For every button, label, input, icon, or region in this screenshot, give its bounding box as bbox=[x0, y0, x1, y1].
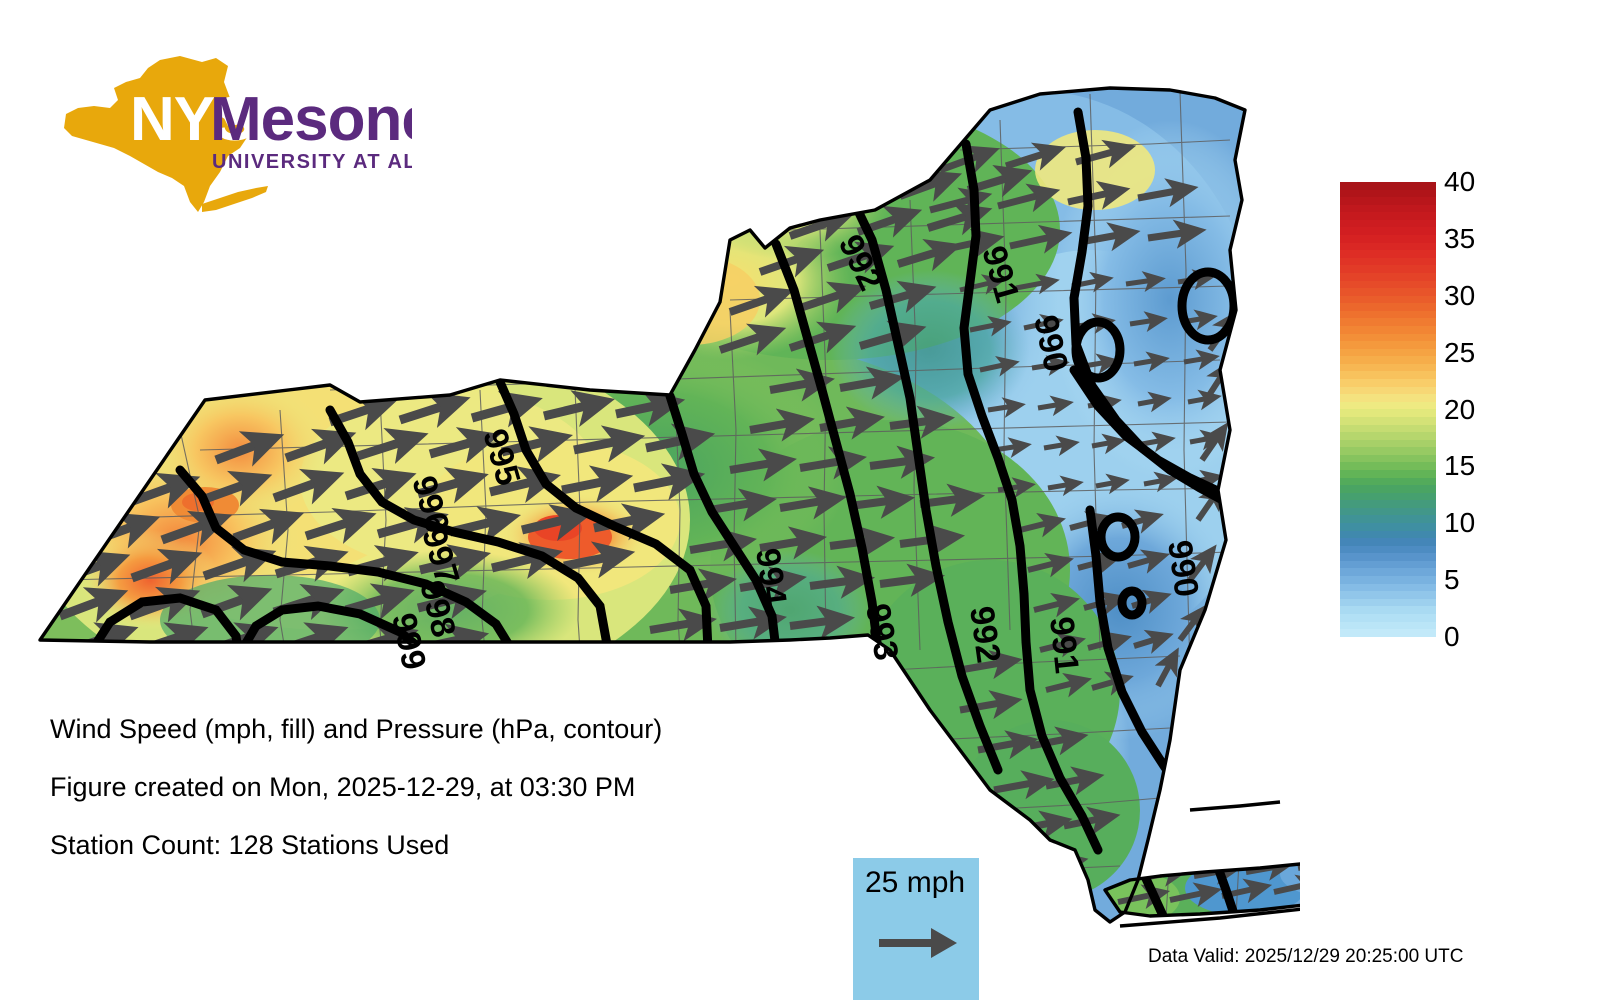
colorbar-band bbox=[1340, 508, 1436, 516]
colorbar-band bbox=[1340, 356, 1436, 364]
reference-vector-legend: 25 mph bbox=[853, 858, 979, 1000]
colorbar-gradient bbox=[1340, 182, 1436, 637]
colorbar-tick-15: 15 bbox=[1444, 452, 1475, 480]
colorbar-band bbox=[1340, 349, 1436, 357]
colorbar-band bbox=[1340, 220, 1436, 228]
colorbar-band bbox=[1340, 538, 1436, 546]
contour-label-990-east: 990 bbox=[1160, 538, 1206, 599]
caption-title: Wind Speed (mph, fill) and Pressure (hPa… bbox=[50, 716, 810, 743]
colorbar-band bbox=[1340, 462, 1436, 470]
colorbar-band bbox=[1340, 478, 1436, 486]
colorbar-band bbox=[1340, 296, 1436, 304]
colorbar-band bbox=[1340, 326, 1436, 334]
colorbar-band bbox=[1340, 576, 1436, 584]
wind-speed-colorbar: 4035302520151050 bbox=[1340, 182, 1436, 637]
colorbar-band bbox=[1340, 470, 1436, 478]
contour-label-992-east: 992 bbox=[962, 604, 1008, 665]
colorbar-band bbox=[1340, 455, 1436, 463]
colorbar-band bbox=[1340, 402, 1436, 410]
colorbar-tick-30: 30 bbox=[1444, 282, 1475, 310]
colorbar-band bbox=[1340, 553, 1436, 561]
colorbar-tick-labels: 4035302520151050 bbox=[1444, 182, 1524, 637]
colorbar-band bbox=[1340, 379, 1436, 387]
colorbar-band bbox=[1340, 485, 1436, 493]
colorbar-band bbox=[1340, 447, 1436, 455]
colorbar-band bbox=[1340, 371, 1436, 379]
colorbar-band bbox=[1340, 303, 1436, 311]
colorbar-band bbox=[1340, 493, 1436, 501]
colorbar-band bbox=[1340, 273, 1436, 281]
reference-vector-arrow-icon bbox=[877, 924, 961, 962]
colorbar-band bbox=[1340, 341, 1436, 349]
colorbar-band bbox=[1340, 205, 1436, 213]
colorbar-band bbox=[1340, 258, 1436, 266]
colorbar-band bbox=[1340, 387, 1436, 395]
colorbar-band bbox=[1340, 212, 1436, 220]
colorbar-band bbox=[1340, 417, 1436, 425]
colorbar-band bbox=[1340, 250, 1436, 258]
colorbar-band bbox=[1340, 500, 1436, 508]
contour-label-994: 994 bbox=[748, 546, 794, 608]
colorbar-tick-10: 10 bbox=[1444, 509, 1475, 537]
data-valid-timestamp: Data Valid: 2025/12/29 20:25:00 UTC bbox=[1148, 946, 1463, 968]
colorbar-band bbox=[1340, 364, 1436, 372]
colorbar-band bbox=[1340, 591, 1436, 599]
colorbar-tick-5: 5 bbox=[1444, 566, 1460, 594]
colorbar-band bbox=[1340, 561, 1436, 569]
colorbar-band bbox=[1340, 334, 1436, 342]
reference-vector-label: 25 mph bbox=[865, 866, 965, 900]
colorbar-band bbox=[1340, 281, 1436, 289]
colorbar-band bbox=[1340, 546, 1436, 554]
colorbar-band bbox=[1340, 318, 1436, 326]
colorbar-band bbox=[1340, 584, 1436, 592]
colorbar-band bbox=[1340, 432, 1436, 440]
caption-block: Wind Speed (mph, fill) and Pressure (hPa… bbox=[50, 716, 810, 890]
caption-created: Figure created on Mon, 2025-12-29, at 03… bbox=[50, 774, 810, 801]
colorbar-band bbox=[1340, 235, 1436, 243]
colorbar-band bbox=[1340, 265, 1436, 273]
colorbar-band bbox=[1340, 197, 1436, 205]
colorbar-band bbox=[1340, 311, 1436, 319]
colorbar-tick-35: 35 bbox=[1444, 225, 1475, 253]
colorbar-band bbox=[1340, 182, 1436, 190]
colorbar-band bbox=[1340, 288, 1436, 296]
colorbar-band bbox=[1340, 531, 1436, 539]
colorbar-tick-0: 0 bbox=[1444, 623, 1460, 651]
colorbar-band bbox=[1340, 606, 1436, 614]
colorbar-band bbox=[1340, 190, 1436, 198]
colorbar-tick-20: 20 bbox=[1444, 396, 1475, 424]
colorbar-band bbox=[1340, 599, 1436, 607]
contour-label-991-south: 991 bbox=[1042, 615, 1086, 675]
colorbar-band bbox=[1340, 440, 1436, 448]
colorbar-band bbox=[1340, 425, 1436, 433]
colorbar-band bbox=[1340, 227, 1436, 235]
colorbar-band bbox=[1340, 243, 1436, 251]
colorbar-band bbox=[1340, 394, 1436, 402]
colorbar-band bbox=[1340, 523, 1436, 531]
colorbar-tick-40: 40 bbox=[1444, 168, 1475, 196]
colorbar-band bbox=[1340, 629, 1436, 637]
colorbar-tick-25: 25 bbox=[1444, 339, 1475, 367]
caption-station-count: Station Count: 128 Stations Used bbox=[50, 832, 810, 859]
colorbar-band bbox=[1340, 515, 1436, 523]
colorbar-band bbox=[1340, 568, 1436, 576]
colorbar-band bbox=[1340, 614, 1436, 622]
colorbar-band bbox=[1340, 409, 1436, 417]
colorbar-band bbox=[1340, 622, 1436, 630]
